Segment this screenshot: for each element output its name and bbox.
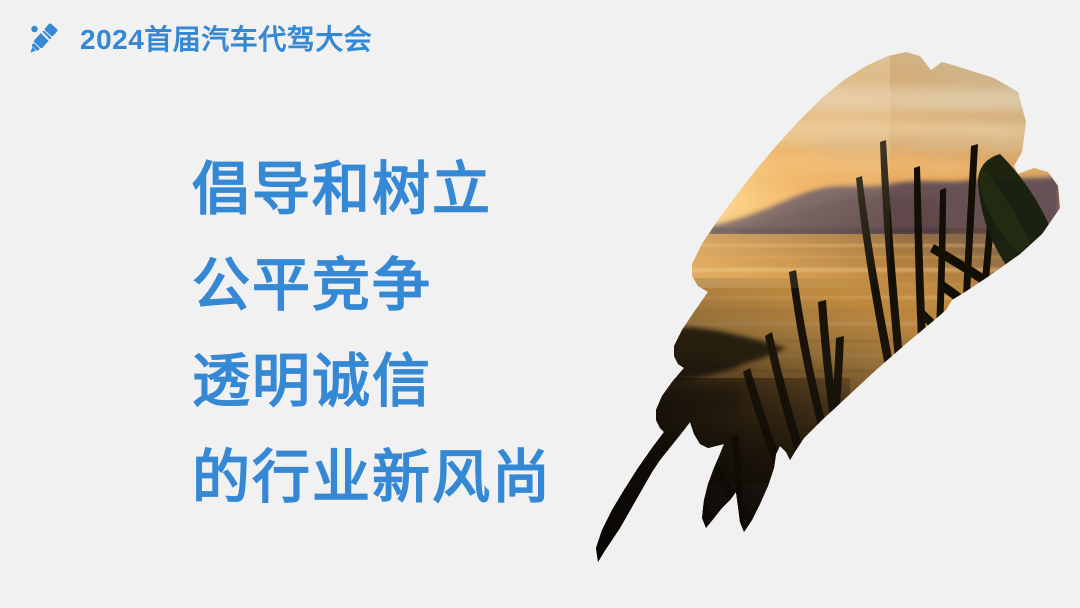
slide-canvas: 2024首届汽车代驾大会 倡导和树立 公平竞争 透明诚信 的行业新风尚 [0, 0, 1080, 608]
masked-sunset-lake-photo [590, 48, 1080, 578]
headline-block: 倡导和树立 公平竞争 透明诚信 的行业新风尚 [192, 142, 592, 526]
headline-line-2: 公平竞争 [192, 238, 592, 334]
pen-icon [24, 18, 68, 62]
headline-line-1: 倡导和树立 [192, 142, 592, 238]
headline-line-3: 透明诚信 [192, 334, 592, 430]
page-title: 2024首届汽车代驾大会 [80, 26, 372, 54]
headline-line-4: 的行业新风尚 [192, 430, 592, 526]
slide-header: 2024首届汽车代驾大会 [24, 18, 372, 62]
